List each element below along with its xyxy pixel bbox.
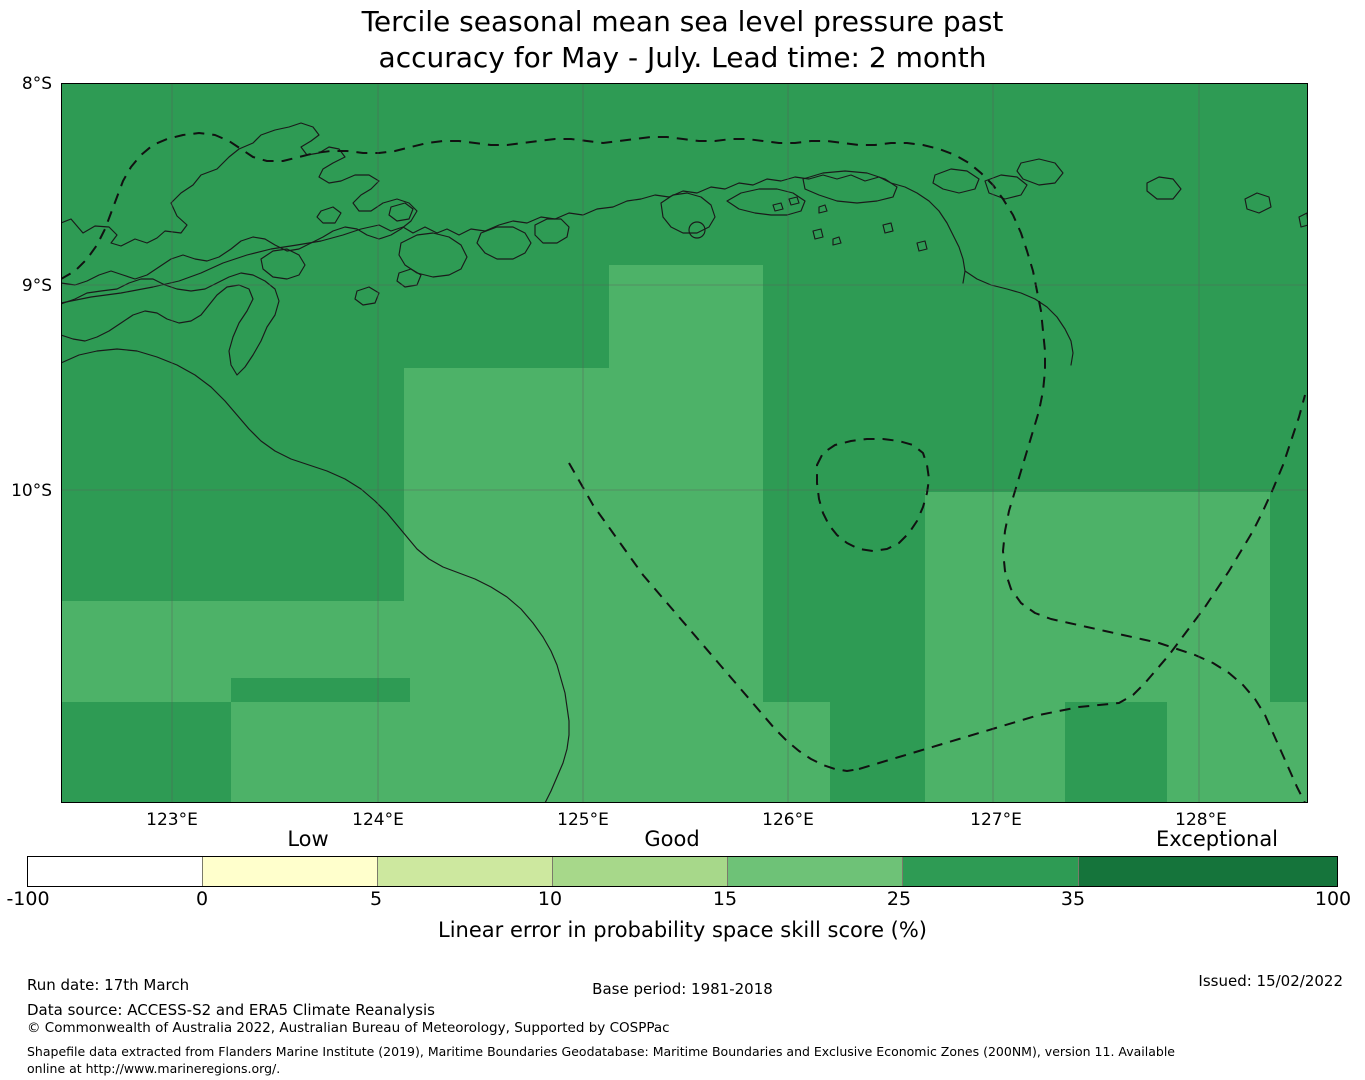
colorbar-band-label-low: Low <box>178 829 438 850</box>
colorbar[interactable] <box>27 856 1338 887</box>
footer-issued-date: Issued: 15/02/2022 <box>1198 972 1343 991</box>
colorbar-tick-7: 100 <box>1288 890 1365 909</box>
colorbar-tick-5: 25 <box>854 890 944 909</box>
colorbar-segment-4 <box>727 857 902 886</box>
footer-base-period: Base period: 1981-2018 <box>0 980 1365 999</box>
x-tick-label-1: 124°E <box>318 812 438 829</box>
x-tick-label-0: 123°E <box>112 812 232 829</box>
colorbar-tick-3: 10 <box>505 890 595 909</box>
colorbar-segment-2 <box>377 857 552 886</box>
colorbar-segment-0 <box>28 857 202 886</box>
colorbar-axis-label: Linear error in probability space skill … <box>0 918 1365 942</box>
y-tick-label-1: 9°S <box>0 278 52 295</box>
y-tick-label-2: 10°S <box>0 483 52 500</box>
title-line-2: accuracy for May - July. Lead time: 2 mo… <box>0 40 1365 76</box>
colorbar-segment-6 <box>1078 857 1337 886</box>
colorbar-segment-3 <box>552 857 727 886</box>
footer-data-source: Data source: ACCESS-S2 and ERA5 Climate … <box>27 1001 435 1020</box>
colorbar-tick-0: -100 <box>0 890 73 909</box>
colorbar-tick-4: 15 <box>680 890 770 909</box>
colorbar-tick-1: 0 <box>157 890 247 909</box>
x-tick-label-3: 126°E <box>728 812 848 829</box>
colorbar-band-label-good: Good <box>542 829 802 850</box>
x-tick-label-2: 125°E <box>523 812 643 829</box>
colorbar-tick-2: 5 <box>331 890 421 909</box>
footer-shapefile-credit: Shapefile data extracted from Flanders M… <box>27 1043 1207 1077</box>
title-line-1: Tercile seasonal mean sea level pressure… <box>362 5 1004 38</box>
page-title: Tercile seasonal mean sea level pressure… <box>0 0 1365 76</box>
colorbar-tick-6: 35 <box>1028 890 1118 909</box>
y-tick-label-0: 8°S <box>0 76 52 93</box>
x-tick-label-4: 127°E <box>936 812 1056 829</box>
map-plot-area[interactable] <box>61 83 1308 803</box>
colorbar-band-label-exceptional: Exceptional <box>1087 829 1347 850</box>
colorbar-segment-1 <box>202 857 377 886</box>
footer-copyright: © Commonwealth of Australia 2022, Austra… <box>27 1020 670 1037</box>
colorbar-segment-5 <box>902 857 1077 886</box>
